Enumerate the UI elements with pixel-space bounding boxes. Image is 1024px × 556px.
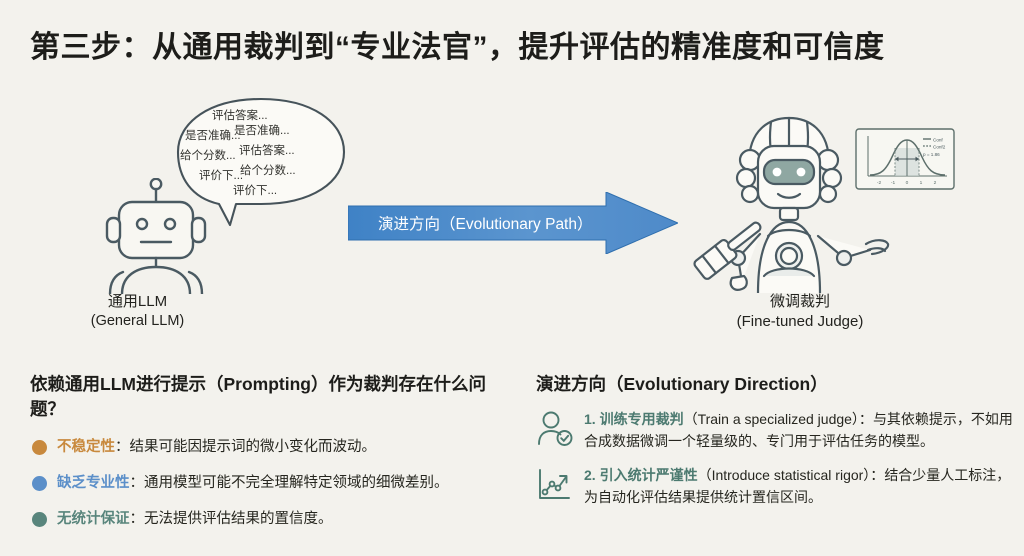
direction-item: 2. 引入统计严谨性（Introduce statistical rigor）：…: [536, 465, 1014, 508]
direction-key: 训练专用裁判: [600, 411, 684, 427]
direction-en: （Train a specialized judge）：: [684, 411, 873, 427]
problem-item: 无统计保证：无法提供评估结果的置信度。: [30, 509, 520, 530]
chart-xtick: -2: [877, 180, 882, 186]
left-figure-caption: 通用LLM (General LLM): [45, 292, 230, 332]
problem-body: 结果可能因提示词的微小变化而波动。: [130, 439, 377, 455]
bullet-dot-blue: [32, 476, 47, 491]
evolutionary-path-arrow: 演进方向（Evolutionary Path）: [348, 192, 678, 254]
direction-column: 演进方向（Evolutionary Direction） 1. 训练专用裁判（T…: [536, 372, 1014, 521]
right-caption-en: (Fine-tuned Judge): [685, 312, 915, 332]
chart-xtick: 0: [906, 180, 909, 186]
bubble-line: 评估答案...: [212, 108, 268, 124]
direction-key: 引入统计严谨性: [600, 467, 698, 483]
problem-text: 无统计保证：无法提供评估结果的置信度。: [57, 509, 333, 530]
problem-key: 不稳定性: [57, 439, 115, 455]
right-figure-caption: 微调裁判 (Fine-tuned Judge): [685, 292, 915, 333]
chart-legend-conf: Conf: [933, 138, 943, 143]
direction-item: 1. 训练专用裁判（Train a specialized judge）：与其依…: [536, 409, 1014, 452]
chart-xtick: -1: [891, 180, 896, 186]
problem-sep: ：: [130, 511, 145, 527]
direction-text: 1. 训练专用裁判（Train a specialized judge）：与其依…: [584, 409, 1014, 452]
slide-root: 第三步：从通用裁判到“专业法官”，提升评估的精准度和可信度 是否准确... 评估…: [0, 0, 1024, 556]
direction-en: （Introduce statistical rigor）：: [698, 467, 885, 483]
confidence-interval-chart: Conf Conf2 p = 1.86 -2 -1 0 1 2: [855, 128, 955, 195]
bullet-dot-orange: [32, 440, 47, 455]
problem-sep: ：: [115, 439, 130, 455]
trending-chart-icon: [536, 467, 576, 508]
chart-annotation-p: p = 1.86: [923, 152, 940, 157]
problem-key: 无统计保证: [57, 511, 130, 527]
problem-item: 不稳定性：结果可能因提示词的微小变化而波动。: [30, 437, 520, 458]
chart-xtick: 2: [934, 180, 937, 186]
right-caption-cn: 微调裁判: [685, 292, 915, 312]
problem-text: 不稳定性：结果可能因提示词的微小变化而波动。: [57, 437, 376, 458]
bullet-dot-teal: [32, 512, 47, 527]
problems-heading: 依赖通用LLM进行提示（Prompting）作为裁判存在什么问题？: [30, 372, 520, 423]
problem-sep: ：: [130, 475, 145, 491]
arrow-label: 演进方向（Evolutionary Path）: [378, 192, 648, 254]
problem-key: 缺乏专业性: [57, 475, 130, 491]
left-caption-en: (General LLM): [45, 312, 230, 332]
direction-text: 2. 引入统计严谨性（Introduce statistical rigor）：…: [584, 465, 1014, 508]
chart-legend-conf2: Conf2: [933, 145, 946, 150]
problem-body: 通用模型可能不完全理解特定领域的细微差别。: [144, 475, 449, 491]
bubble-line: 给个分数...: [180, 148, 236, 164]
problem-text: 缺乏专业性：通用模型可能不完全理解特定领域的细微差别。: [57, 473, 449, 494]
left-caption-cn: 通用LLM: [45, 292, 230, 312]
general-llm-robot-icon: [92, 178, 220, 299]
problem-item: 缺乏专业性：通用模型可能不完全理解特定领域的细微差别。: [30, 473, 520, 494]
page-title: 第三步：从通用裁判到“专业法官”，提升评估的精准度和可信度: [30, 22, 1000, 66]
chart-xtick: 1: [920, 180, 923, 186]
problem-body: 无法提供评估结果的置信度。: [144, 511, 333, 527]
bubble-line: 是否准确...: [185, 128, 241, 144]
direction-heading: 演进方向（Evolutionary Direction）: [536, 372, 1014, 397]
problems-column: 依赖通用LLM进行提示（Prompting）作为裁判存在什么问题？ 不稳定性：结…: [30, 372, 520, 545]
user-check-icon: [536, 411, 576, 452]
direction-num: 1.: [584, 411, 596, 427]
direction-num: 2.: [584, 467, 596, 483]
